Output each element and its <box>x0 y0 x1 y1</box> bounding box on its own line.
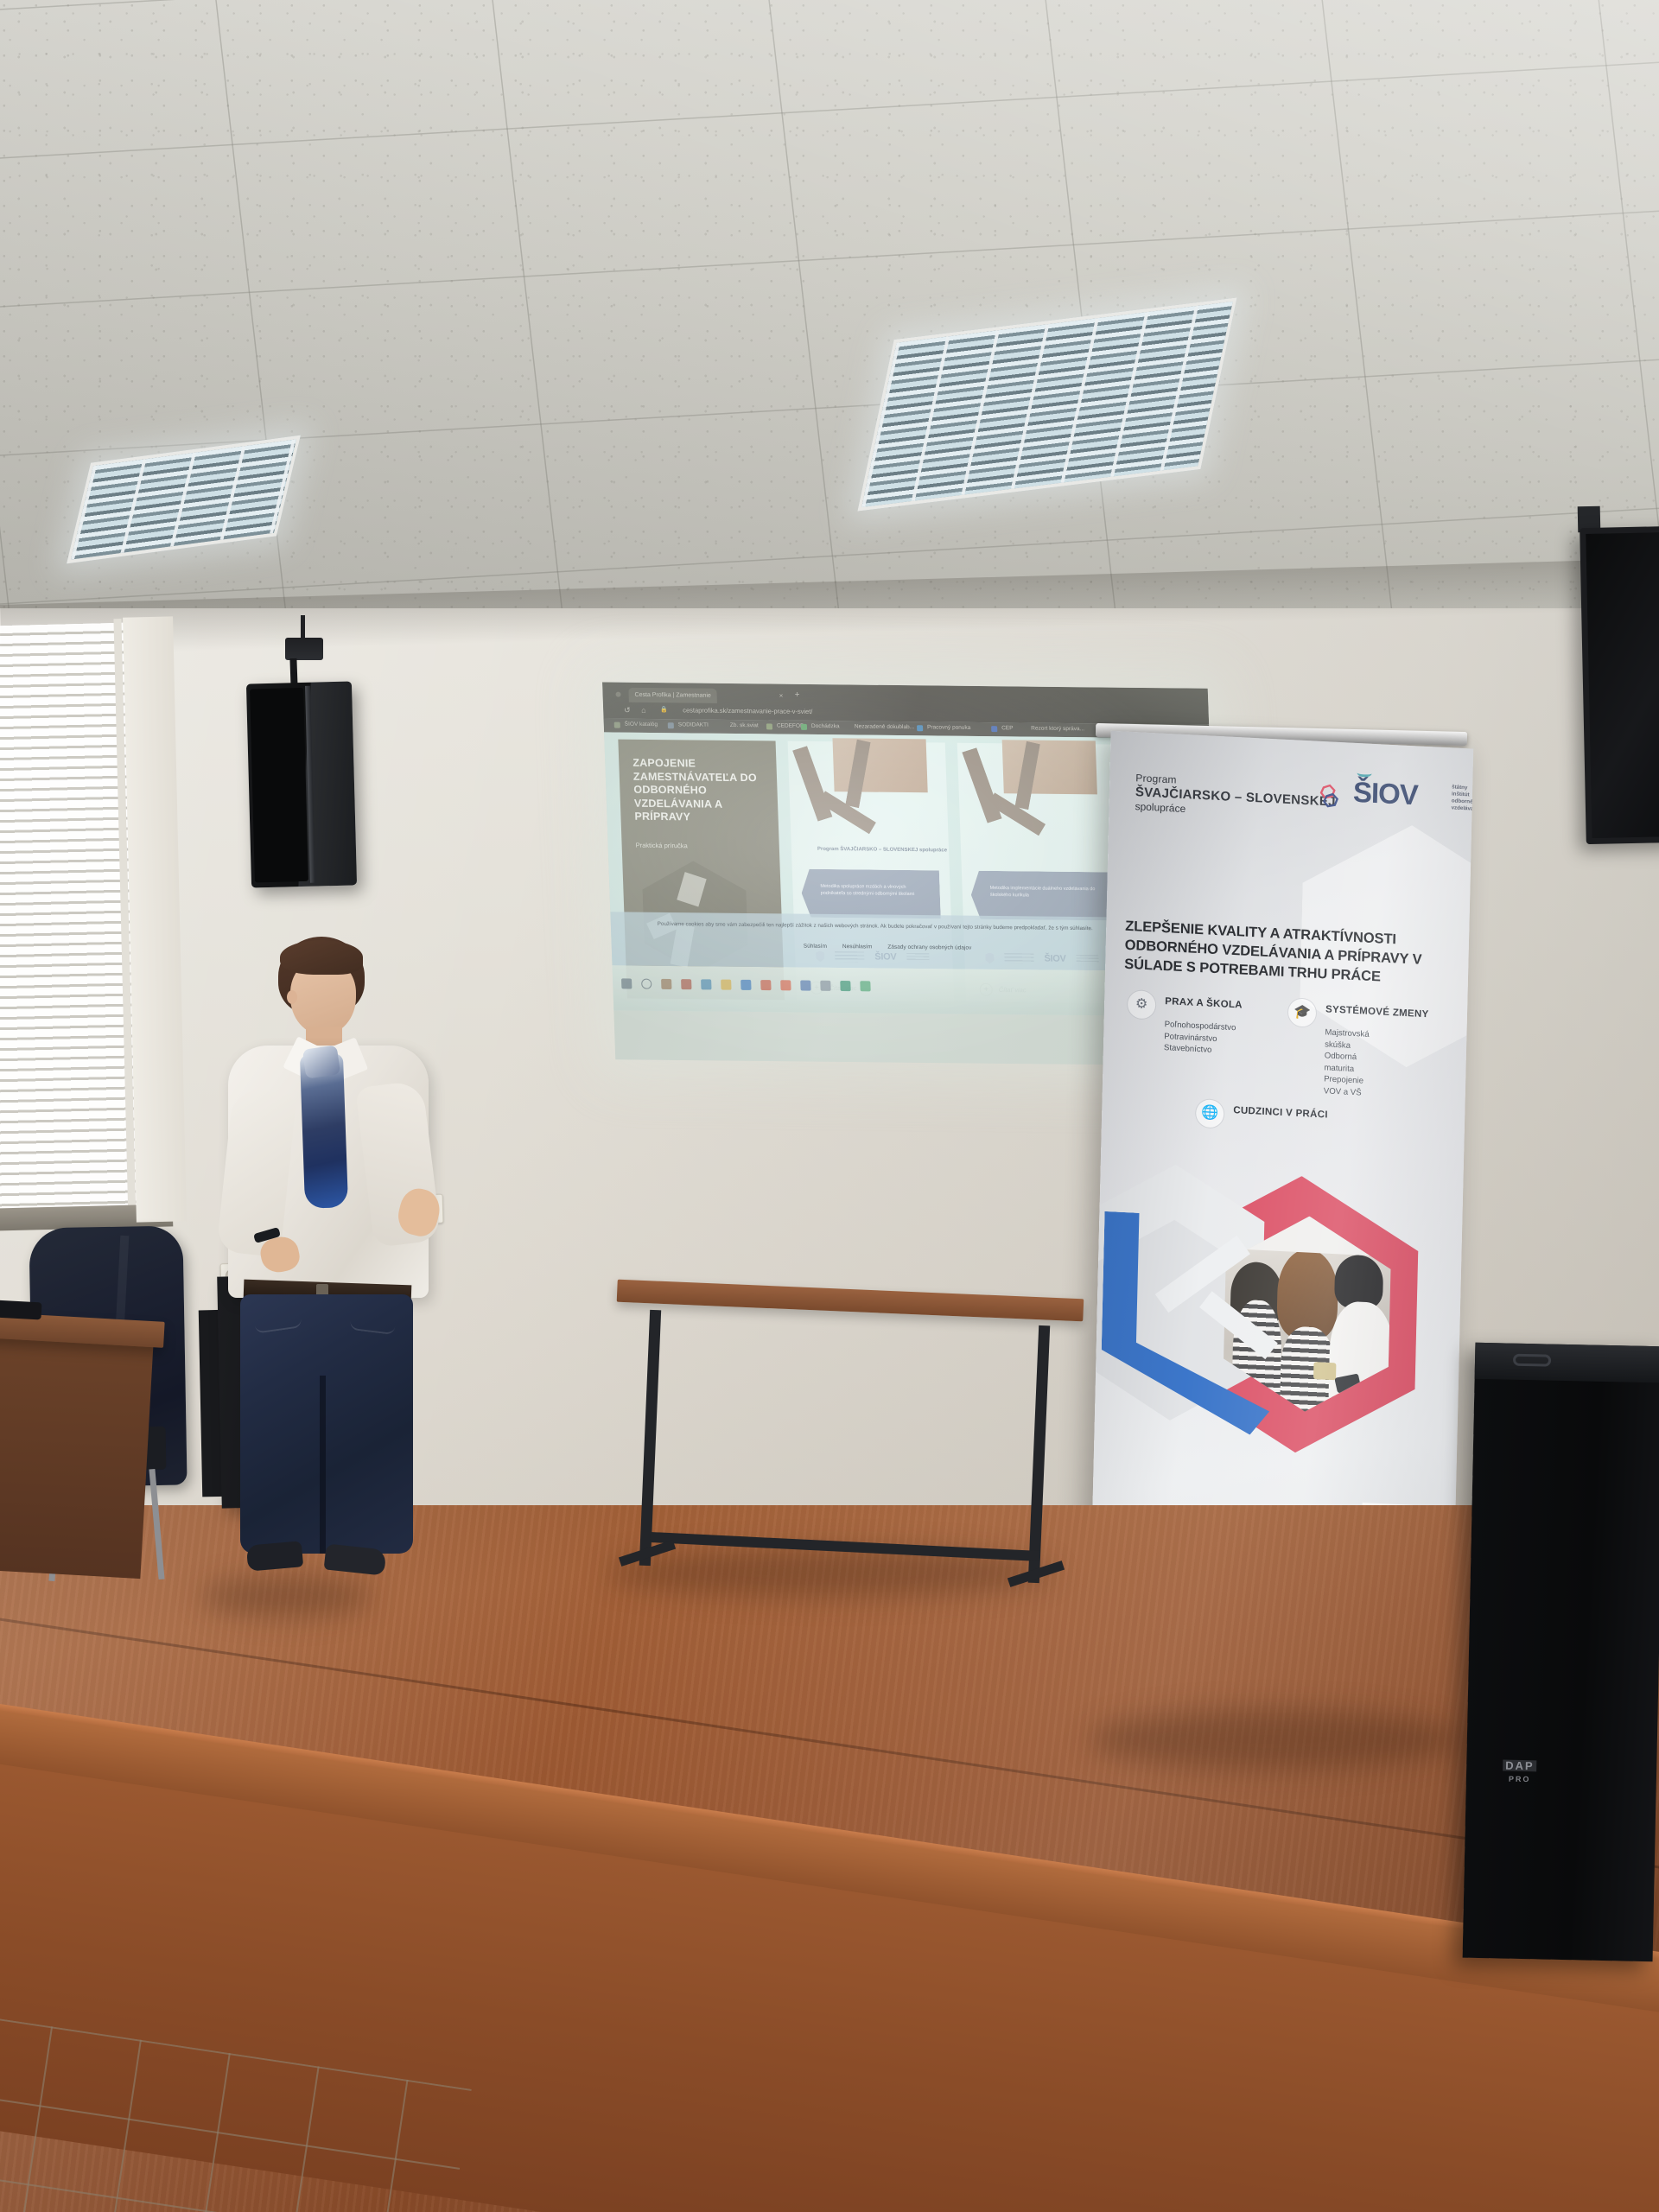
banner-hexagon-graphic <box>1088 1160 1473 1473</box>
cookie-buttons: Súhlasím Nesúhlasím Zásady ochrany osobn… <box>804 944 972 951</box>
card-band: Metodika spolupráce mzdách a vlnových po… <box>801 869 941 919</box>
app-icon[interactable] <box>780 980 791 990</box>
desk-panel <box>0 1337 153 1579</box>
new-tab-icon[interactable]: + <box>795 691 800 700</box>
reload-icon[interactable]: ↺ <box>624 706 631 715</box>
ribbon-graphic <box>804 743 911 846</box>
presenter-shoe-left <box>246 1541 303 1571</box>
app-icon[interactable] <box>820 981 830 991</box>
lock-icon: 🔒 <box>660 706 668 713</box>
presenter-fringe <box>280 940 363 975</box>
caron-accent <box>1357 769 1371 778</box>
ceiling <box>0 0 1659 657</box>
tv-screen <box>1586 532 1659 838</box>
desk-object <box>0 1300 41 1320</box>
bookmark-icon[interactable] <box>801 723 807 729</box>
program-block: Program ŠVAJČIARSKO – SLOVENSKEJ spolupr… <box>1135 772 1336 823</box>
card-band-text: Metodika implementácie duálneho vzdeláva… <box>989 885 1101 899</box>
dap-pro-speaker: DAP PRO <box>1463 1343 1659 1961</box>
card-title: ZAPOJENIE ZAMESTNÁVATEĽA DO ODBORNÉHO VZ… <box>632 757 765 825</box>
bookmark-item[interactable]: Dochádzka <box>811 723 840 729</box>
wall-mounted-tv <box>1580 526 1659 844</box>
feature-glyph: ⚙ <box>1135 997 1148 1012</box>
presenter-person <box>204 937 489 1578</box>
close-icon[interactable]: × <box>779 692 787 700</box>
siov-wordmark: ŠIOV <box>1353 778 1419 810</box>
feature-glyph: 🌐 <box>1201 1106 1218 1121</box>
siov-tagline: štátny inštitút odborného vzdelávania <box>1452 784 1474 813</box>
presenter-shadow <box>200 1576 373 1618</box>
dap-logo-line2: PRO <box>1503 1775 1537 1784</box>
feature-lines: Poľnohospodárstvo Potravinárstvo Stavebn… <box>1164 1019 1236 1058</box>
bookmark-item[interactable]: SODIDAKTI <box>678 721 709 728</box>
app-icon[interactable] <box>681 979 691 989</box>
browser-menu-dot <box>615 692 620 697</box>
presenter-jeans-seam <box>320 1376 326 1554</box>
word-icon[interactable] <box>741 980 751 990</box>
home-icon[interactable]: ⌂ <box>641 706 646 715</box>
app-icon[interactable] <box>860 981 870 991</box>
graduation-cap-icon: 🎓 <box>1287 997 1318 1028</box>
card-subtitle: Praktická príručka <box>635 842 687 850</box>
presenter-scarf <box>300 1053 348 1209</box>
accept-cookies-button[interactable]: Súhlasím <box>804 944 827 950</box>
banner-header: Program ŠVAJČIARSKO – SLOVENSKEJ spolupr… <box>1135 770 1457 839</box>
browser-titlebar: Cesta Profika | Zamestnanie × + ↺ ⌂ 🔒 ce… <box>602 682 1209 724</box>
bookmark-icon[interactable] <box>668 722 674 728</box>
bookmark-item[interactable]: CEP <box>1001 725 1014 731</box>
ceiling-projector <box>285 638 323 660</box>
ribbon-graphic <box>973 745 1080 848</box>
explorer-icon[interactable] <box>661 979 671 989</box>
bookmark-icon[interactable] <box>766 723 772 729</box>
teams-icon[interactable] <box>800 981 810 991</box>
bookmark-item[interactable]: Nezaradené dokublab... <box>855 723 914 730</box>
feature-lines: Majstrovská skúška Odborná maturita Prep… <box>1324 1027 1370 1099</box>
dap-logo-line1: DAP <box>1503 1760 1537 1772</box>
search-icon[interactable] <box>641 979 652 989</box>
bookmark-item[interactable]: CEDEFOP <box>777 723 804 729</box>
bookmark-icon[interactable] <box>991 726 997 732</box>
taskbar-icons <box>621 978 871 991</box>
app-icon[interactable] <box>721 980 731 990</box>
bookmark-item[interactable]: Pracovný ponuka <box>927 724 971 731</box>
feature-title: PRAX A ŠKOLA <box>1165 996 1243 1010</box>
start-icon[interactable] <box>621 978 632 988</box>
speaker-handle <box>1513 1354 1551 1367</box>
card-program-label: Program ŠVAJČIARSKO – SLOVENSKEJ spolupr… <box>817 847 947 855</box>
speaker-grille <box>250 688 308 883</box>
browser-tab[interactable]: Cesta Profika | Zamestnanie <box>628 688 717 703</box>
feature-title: CUDZINCI V PRÁCI <box>1233 1105 1328 1120</box>
privacy-policy-link[interactable]: Zásady ochrany osobných údajov <box>887 944 971 951</box>
swiss-slovak-mark-icon <box>1313 782 1344 813</box>
card-band: Metodika implementácie duálneho vzdeláva… <box>970 871 1110 921</box>
speaker-top <box>1475 1343 1659 1383</box>
browser-icon[interactable] <box>701 979 711 989</box>
conference-room-scene: Cesta Profika | Zamestnanie × + ↺ ⌂ 🔒 ce… <box>0 0 1659 2212</box>
bookmark-item[interactable]: Rezort ktorý správa... <box>1031 726 1084 733</box>
powerpoint-icon[interactable] <box>760 980 771 990</box>
bookmark-item[interactable]: ŠIOV katalóg <box>625 721 658 728</box>
globe-people-icon: 🌐 <box>1195 1098 1225 1129</box>
presenter-scarf-knot <box>302 1045 340 1078</box>
siov-logo: ŠIOV štátny inštitút odborného vzdelávan… <box>1353 778 1419 810</box>
handshake-gears-icon: ⚙ <box>1127 989 1157 1020</box>
excel-icon[interactable] <box>840 981 850 991</box>
bookmark-icon[interactable] <box>614 721 620 728</box>
card-band-text: Metodika spolupráce mzdách a vlnových po… <box>820 883 931 898</box>
bookmark-icon[interactable] <box>917 725 923 731</box>
cookie-text: Používame cookies aby sme vám zabezpečil… <box>658 920 1175 933</box>
decline-cookies-button[interactable]: Nesúhlasím <box>842 944 873 950</box>
wall-mounted-speaker <box>246 681 357 887</box>
presenter-ear <box>287 990 297 1004</box>
dap-logo: DAP PRO <box>1503 1758 1537 1784</box>
feature-glyph: 🎓 <box>1294 1006 1311 1020</box>
bookmark-item[interactable]: Zb. sk.sviat <box>730 722 759 728</box>
address-bar[interactable]: cestaprofika.sk/zamestnavanie-prace-v-sv… <box>683 706 813 715</box>
ceiling-shading <box>0 0 1659 657</box>
banner-shadow <box>1089 1709 1460 1770</box>
